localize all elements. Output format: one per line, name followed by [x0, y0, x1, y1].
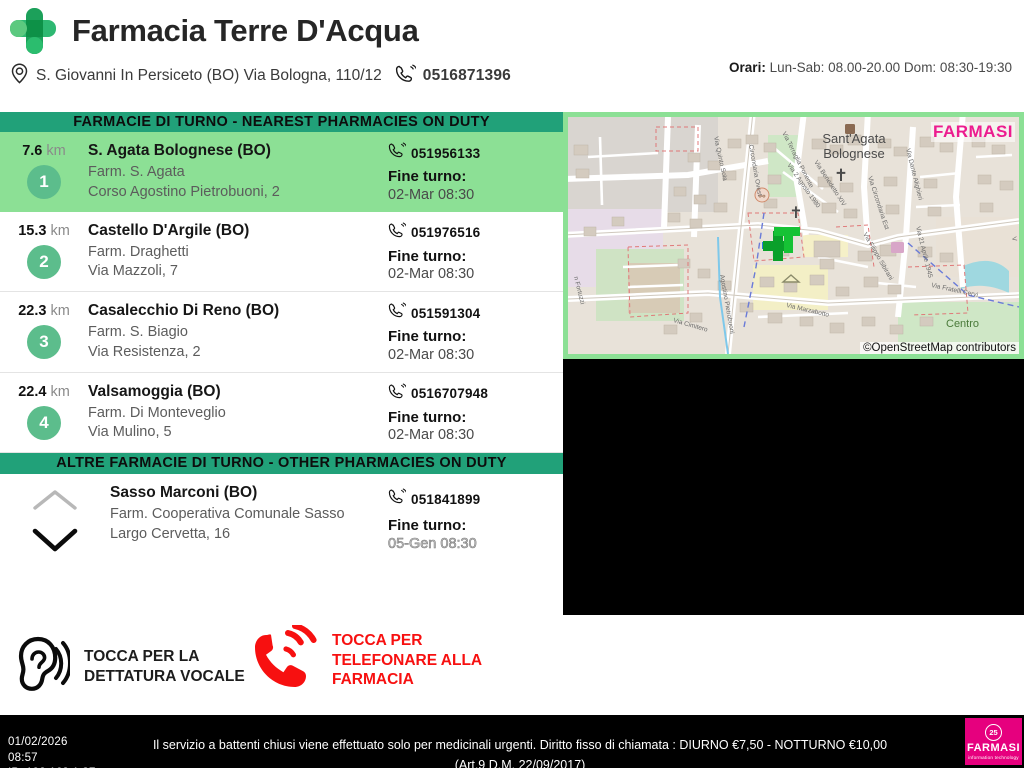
- pharmacy-contact-cell: 051591304 Fine turno: 02-Mar 08:30: [388, 299, 563, 363]
- farmasi-badge: 25 FARMASI information technology: [965, 718, 1022, 765]
- pharmacy-phone[interactable]: 0516707948: [411, 386, 488, 401]
- rank-badge: 2: [27, 245, 61, 279]
- footer-bar: 01/02/2026 08:57 IP: 192.168.1.37 Il ser…: [0, 715, 1024, 768]
- pharmacy-contact-cell: 051976516 Fine turno: 02-Mar 08:30: [388, 219, 563, 283]
- page-header: Farmacia Terre D'Acqua S. Giovanni In Pe…: [0, 0, 1024, 110]
- pharmacy-info-cell: Sasso Marconi (BO) Farm. Cooperativa Com…: [110, 484, 388, 554]
- pharmacy-address: Via Resistenza, 2: [88, 343, 388, 363]
- pharmacy-contact-cell: 0516707948 Fine turno: 02-Mar 08:30: [388, 380, 563, 444]
- distance-cell: 7.6 km 1: [0, 139, 88, 203]
- ringing-phone-icon: [252, 625, 318, 696]
- osm-map[interactable]: ⚯ ✝ ✝ Via Quinto Sola Circondaria Ovest: [568, 117, 1019, 354]
- pharmacy-town: Sasso Marconi (BO): [110, 484, 388, 502]
- pharmacy-name: Farm. S. Agata: [88, 163, 388, 183]
- chevron-up-icon[interactable]: [29, 486, 81, 516]
- header-address-bar: S. Giovanni In Persiceto (BO) Via Bologn…: [10, 63, 511, 89]
- opening-hours-label: Orari:: [729, 60, 766, 75]
- list-item[interactable]: Sasso Marconi (BO) Farm. Cooperativa Com…: [0, 474, 563, 560]
- green-cross-icon: [8, 6, 62, 56]
- pharmacy-name: Farm. Draghetti: [88, 243, 388, 263]
- pharmacy-name: Farm. S. Biagio: [88, 323, 388, 343]
- map-attribution: ©OpenStreetMap contributors: [860, 342, 1019, 354]
- page-title: Farmacia Terre D'Acqua: [72, 13, 419, 49]
- distance-unit: km: [50, 384, 69, 400]
- pharmacy-contact-cell: 051956133 Fine turno: 02-Mar 08:30: [388, 139, 563, 203]
- svg-text:✝: ✝: [834, 166, 848, 185]
- rank-badge: 1: [27, 165, 61, 199]
- voice-label-line2: DETTATURA VOCALE: [84, 668, 245, 685]
- phone-icon: [395, 64, 416, 89]
- pharmacy-name: Farm. Di Monteveglio: [88, 404, 388, 424]
- action-bar: TOCCA PER LA DETTATURA VOCALE TOCCA PER …: [0, 615, 1024, 715]
- shift-end-label: Fine turno:: [388, 167, 563, 187]
- call-pharmacy-label: TOCCA PER TELEFONARE ALLA FARMACIA: [332, 631, 482, 689]
- phone-icon: [388, 222, 406, 244]
- map-canvas: ⚯ ✝ ✝ Via Quinto Sola Circondaria Ovest: [568, 117, 1019, 354]
- distance-cell: 22.4 km 4: [0, 380, 88, 444]
- shift-end-value: 02-Mar 08:30: [388, 347, 563, 363]
- shift-end-value: 02-Mar 08:30: [388, 266, 563, 282]
- footer-status: 01/02/2026 08:57 IP: 192.168.1.37: [8, 735, 96, 768]
- shift-end-value: 02-Mar 08:30: [388, 427, 563, 443]
- table-row[interactable]: 22.4 km 4 Valsamoggia (BO) Farm. Di Mont…: [0, 373, 563, 454]
- map-panel[interactable]: ⚯ ✝ ✝ Via Quinto Sola Circondaria Ovest: [563, 112, 1024, 359]
- table-row[interactable]: 15.3 km 2 Castello D'Argile (BO) Farm. D…: [0, 212, 563, 293]
- voice-label-line1: TOCCA PER LA: [84, 648, 199, 665]
- table-row[interactable]: 22.3 km 3 Casalecchio Di Reno (BO) Farm.…: [0, 292, 563, 373]
- distance-cell: 22.3 km 3: [0, 299, 88, 363]
- header-address-text: S. Giovanni In Persiceto (BO) Via Bologn…: [36, 67, 382, 85]
- pharmacy-info-cell: S. Agata Bolognese (BO) Farm. S. Agata C…: [88, 139, 388, 203]
- pharmacy-town: S. Agata Bolognese (BO): [88, 142, 388, 160]
- distance-value: 15.3: [18, 223, 46, 239]
- footer-notice: Il servizio a battenti chiusi viene effe…: [150, 735, 890, 768]
- shift-end-value: 05-Gen 08:30: [388, 536, 563, 552]
- pharmacy-kiosk-screen: Farmacia Terre D'Acqua S. Giovanni In Pe…: [0, 0, 1024, 768]
- phone-icon: [388, 488, 406, 510]
- phone-icon: [388, 302, 406, 324]
- pharmacy-info-cell: Valsamoggia (BO) Farm. Di Monteveglio Vi…: [88, 380, 388, 444]
- other-section-header: ALTRE FARMACIE DI TURNO - OTHER PHARMACI…: [0, 453, 563, 474]
- pharmacy-town: Valsamoggia (BO): [88, 383, 388, 401]
- distance-unit: km: [46, 143, 65, 159]
- call-pharmacy-button[interactable]: TOCCA PER TELEFONARE ALLA FARMACIA: [252, 625, 482, 696]
- distance-value: 7.6: [22, 143, 42, 159]
- pharmacy-town: Casalecchio Di Reno (BO): [88, 302, 388, 320]
- farmasi-badge-sub: information technology: [968, 755, 1019, 760]
- pharmacy-town: Castello D'Argile (BO): [88, 222, 388, 240]
- pharmacy-address: Corso Agostino Pietrobuoni, 2: [88, 183, 388, 203]
- phone-icon: [388, 383, 406, 405]
- map-pin-icon: [10, 63, 29, 89]
- rank-badge: 3: [27, 325, 61, 359]
- distance-unit: km: [50, 223, 69, 239]
- pharmacy-address: Largo Cervetta, 16: [110, 525, 388, 545]
- pharmacy-address: Via Mulino, 5: [88, 423, 388, 443]
- call-label-line3: FARMACIA: [332, 671, 414, 688]
- shift-end-label: Fine turno:: [388, 247, 563, 267]
- pharmacy-name: Farm. Cooperativa Comunale Sasso: [110, 505, 388, 525]
- chevron-down-icon[interactable]: [29, 524, 81, 554]
- map-place-label-1: Sant'Agata: [822, 131, 886, 146]
- video-placeholder-panel: [563, 359, 1024, 615]
- pharmacy-phone[interactable]: 051976516: [411, 225, 480, 240]
- opening-hours: Orari: Lun-Sab: 08.00-20.00 Dom: 08:30-1…: [712, 58, 1012, 78]
- shift-end-label: Fine turno:: [388, 516, 563, 536]
- pharmacy-list-column: FARMACIE DI TURNO - NEAREST PHARMACIES O…: [0, 112, 563, 560]
- header-phone-number[interactable]: 0516871396: [423, 67, 511, 85]
- map-watermark-logo: FARMASI: [931, 122, 1015, 142]
- voice-dictation-button[interactable]: TOCCA PER LA DETTATURA VOCALE: [8, 633, 245, 700]
- list-scroll-controls: [0, 484, 110, 554]
- footer-date: 01/02/2026: [8, 735, 96, 751]
- pharmacy-contact-cell: 051841899 Fine turno: 05-Gen 08:30: [388, 484, 563, 554]
- map-place-label-2: Bolognese: [823, 146, 884, 161]
- pharmacy-phone[interactable]: 051956133: [411, 146, 480, 161]
- farmasi-badge-name: FARMASI: [967, 742, 1020, 754]
- shift-end-label: Fine turno:: [388, 327, 563, 347]
- phone-icon: [388, 142, 406, 164]
- footer-time: 08:57: [8, 751, 96, 767]
- pharmacy-info-cell: Casalecchio Di Reno (BO) Farm. S. Biagio…: [88, 299, 388, 363]
- pharmacy-phone[interactable]: 051591304: [411, 306, 480, 321]
- distance-value: 22.3: [18, 303, 46, 319]
- brand-block: Farmacia Terre D'Acqua: [8, 6, 419, 56]
- call-label-line2: TELEFONARE ALLA: [332, 652, 482, 669]
- map-place-label-centro: Centro: [946, 318, 979, 330]
- table-row[interactable]: 7.6 km 1 S. Agata Bolognese (BO) Farm. S…: [0, 132, 563, 212]
- opening-hours-value: Lun-Sab: 08.00-20.00 Dom: 08:30-19:30: [770, 60, 1012, 75]
- nearest-section-header: FARMACIE DI TURNO - NEAREST PHARMACIES O…: [0, 112, 563, 132]
- pharmacy-phone[interactable]: 051841899: [411, 492, 480, 507]
- distance-cell: 15.3 km 2: [0, 219, 88, 283]
- distance-unit: km: [50, 303, 69, 319]
- anniversary-seal-icon: 25: [985, 724, 1002, 741]
- distance-value: 22.4: [18, 384, 46, 400]
- voice-dictation-label: TOCCA PER LA DETTATURA VOCALE: [84, 647, 245, 686]
- shift-end-value: 02-Mar 08:30: [388, 187, 563, 203]
- shift-end-label: Fine turno:: [388, 408, 563, 428]
- pharmacy-address: Via Mazzoli, 7: [88, 262, 388, 282]
- ear-listening-icon: [8, 633, 70, 700]
- svg-text:✝: ✝: [789, 205, 802, 222]
- pharmacy-info-cell: Castello D'Argile (BO) Farm. Draghetti V…: [88, 219, 388, 283]
- rank-badge: 4: [27, 406, 61, 440]
- call-label-line1: TOCCA PER: [332, 632, 422, 649]
